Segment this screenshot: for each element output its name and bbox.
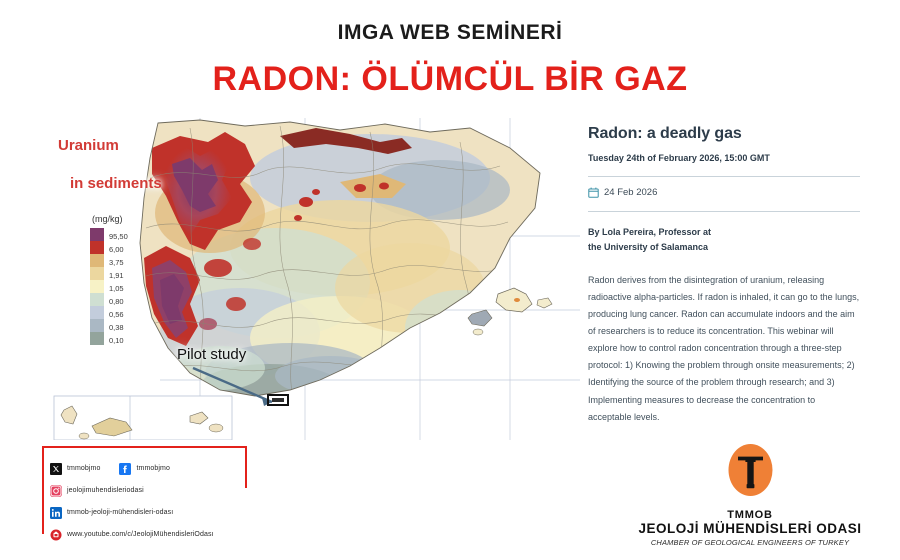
map-legend: (mg/kg) 95,506,003,751,911,050,800,560,3… [90,214,128,347]
byline-line-1: By Lola Pereira, Professor at [588,225,860,240]
webinar-description: Radon derives from the disintegration of… [588,272,860,426]
header: IMGA WEB SEMİNERİ RADON: ÖLÜMCÜL BİR GAZ [0,0,900,96]
legend-unit-label: (mg/kg) [92,214,128,224]
legend-swatch [90,267,104,280]
linkedin-handle[interactable]: tmmob-jeoloji-mühendisleri-odası [67,509,173,516]
linkedin-icon[interactable] [50,506,62,518]
legend-value: 0,56 [109,308,128,321]
legend-value: 1,91 [109,269,128,282]
page-title: RADON: ÖLÜMCÜL BİR GAZ [0,62,900,96]
byline-line-2: the University of Salamanca [588,240,860,255]
x-twitter-icon[interactable] [50,462,62,474]
legend-swatch [90,293,104,306]
uranium-map: Uranium in sediments Pilot study (mg/kg)… [40,118,580,440]
social-box-border-right [245,446,247,488]
webinar-title: Radon: a deadly gas [588,124,860,143]
pilot-study-label: Pilot study [177,346,246,363]
social-row-instagram: jeolojimuhendisleriodasi [50,479,214,501]
facebook-icon[interactable] [119,462,131,474]
legend-swatch [90,332,104,345]
social-media-box: tmmobjmo tmmobjmo jeolojimuhendislerioda [42,446,247,546]
map-title-line2: in sediments [70,176,162,191]
logo-line-1: TMMOB [625,509,875,521]
date-badge: 24 Feb 2026 [588,187,860,198]
legend-swatch [90,228,104,241]
social-box-border-left [42,446,44,534]
instagram-handle[interactable]: jeolojimuhendisleriodasi [67,487,144,494]
date-badge-text: 24 Feb 2026 [604,187,657,198]
header-subtitle: IMGA WEB SEMİNERİ [0,22,900,43]
map-title-line1: Uranium [58,138,119,153]
facebook-handle[interactable]: tmmobjmo [136,465,169,472]
x-twitter-handle[interactable]: tmmobjmo [67,465,100,472]
instagram-icon[interactable] [50,484,62,496]
youtube-url[interactable]: www.youtube.com/c/JeolojiMühendisleriOda… [67,531,214,538]
speaker-byline: By Lola Pereira, Professor at the Univer… [588,225,860,255]
legend-color-ramp [90,228,104,347]
calendar-icon [588,187,599,198]
logo-line-3: CHAMBER OF GEOLOGICAL ENGINEERS OF TURKE… [625,538,875,547]
legend-value: 6,00 [109,243,128,256]
tmmob-emblem-icon [727,443,774,499]
legend-swatch [90,319,104,332]
legend-swatch [90,254,104,267]
social-row-linkedin: tmmob-jeoloji-mühendisleri-odası [50,501,214,523]
webinar-info-panel: Radon: a deadly gas Tuesday 24th of Febr… [588,124,860,426]
social-row-youtube: www.youtube.com/c/JeolojiMühendisleriOda… [50,523,214,545]
social-row-top: tmmobjmo tmmobjmo [50,457,214,479]
legend-value: 1,05 [109,282,128,295]
social-links-list: tmmobjmo tmmobjmo jeolojimuhendislerioda [50,457,214,545]
webinar-datetime: Tuesday 24th of February 2026, 15:00 GMT [588,153,860,163]
legend-swatch [90,241,104,254]
tmmob-logo-block: TMMOB JEOLOJİ MÜHENDİSLERİ ODASI CHAMBER… [625,443,875,547]
logo-line-2: JEOLOJİ MÜHENDİSLERİ ODASI [625,521,875,537]
legend-value: 3,75 [109,256,128,269]
legend-value-labels: 95,506,003,751,911,050,800,560,380,10 [109,228,128,347]
youtube-icon[interactable] [50,528,62,540]
legend-swatch [90,280,104,293]
social-box-border-top [42,446,247,448]
legend-swatch [90,306,104,319]
legend-value: 0,38 [109,321,128,334]
legend-value: 0,10 [109,334,128,347]
divider-top [588,176,860,177]
legend-value: 0,80 [109,295,128,308]
divider-bottom [588,211,860,212]
legend-value: 95,50 [109,230,128,243]
